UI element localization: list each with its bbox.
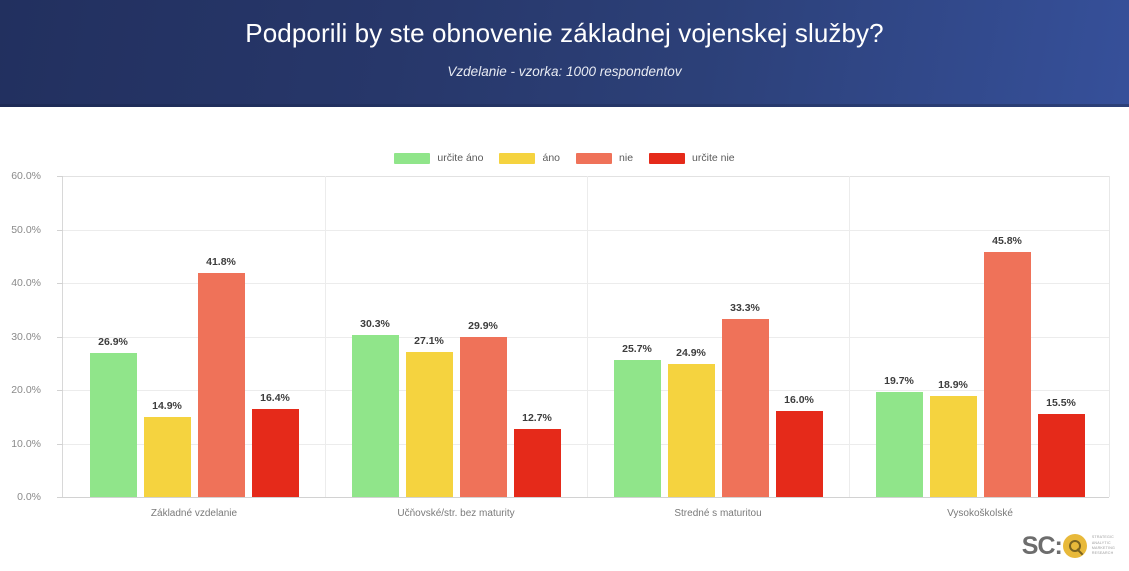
bar-group-bars: 30.3%27.1%29.9%12.7%	[325, 176, 587, 497]
bar[interactable]	[252, 409, 299, 497]
bar-column[interactable]: 33.3%	[722, 176, 769, 497]
legend-label: určite nie	[692, 152, 735, 164]
chart-plot-area: 60.0%50.0%40.0%30.0%20.0%10.0%0.0%26.9%1…	[62, 176, 1110, 497]
bar-value-label: 15.5%	[1046, 397, 1076, 409]
bar-column[interactable]: 25.7%	[614, 176, 661, 497]
legend-item-1[interactable]: áno	[499, 152, 560, 164]
bar[interactable]	[876, 392, 923, 497]
bar-group: 26.9%14.9%41.8%16.4%Základné vzdelanie	[63, 176, 325, 497]
bar[interactable]	[460, 337, 507, 497]
bar-group: 25.7%24.9%33.3%16.0%Stredné s maturitou	[587, 176, 849, 497]
bar-value-label: 16.4%	[260, 392, 290, 404]
legend-item-3[interactable]: určite nie	[649, 152, 735, 164]
bar-value-label: 26.9%	[98, 336, 128, 348]
bar-value-label: 41.8%	[206, 256, 236, 268]
y-axis-tick-mark	[57, 497, 63, 498]
logo-tagline: STRATEGICANALYTICMARKETINGRESEARCH	[1092, 535, 1115, 557]
y-axis-tick-label: 30.0%	[0, 331, 41, 343]
legend-swatch-icon	[649, 153, 685, 164]
y-axis-tick-label: 60.0%	[0, 170, 41, 182]
page-subtitle: Vzdelanie - vzorka: 1000 respondentov	[0, 64, 1129, 79]
bar-column[interactable]: 45.8%	[984, 176, 1031, 497]
bar-column[interactable]: 16.0%	[776, 176, 823, 497]
y-axis-tick-label: 40.0%	[0, 277, 41, 289]
legend-swatch-icon	[499, 153, 535, 164]
bar[interactable]	[144, 417, 191, 497]
bar-value-label: 18.9%	[938, 379, 968, 391]
legend-swatch-icon	[576, 153, 612, 164]
bar[interactable]	[930, 396, 977, 497]
page-title: Podporili by ste obnovenie základnej voj…	[0, 18, 1129, 49]
bar-group: 19.7%18.9%45.8%15.5%Vysokoškolské	[849, 176, 1111, 497]
legend-label: nie	[619, 152, 633, 164]
bar[interactable]	[406, 352, 453, 497]
y-axis-tick-label: 0.0%	[0, 491, 41, 503]
bar-column[interactable]: 14.9%	[144, 176, 191, 497]
y-axis-tick-label: 10.0%	[0, 438, 41, 450]
bar[interactable]	[1038, 414, 1085, 497]
chart-legend: určite ánoánonieurčite nie	[0, 152, 1129, 164]
bar-value-label: 24.9%	[676, 347, 706, 359]
x-axis-category-label: Základné vzdelanie	[63, 508, 325, 519]
bar-value-label: 12.7%	[522, 412, 552, 424]
bar-value-label: 19.7%	[884, 375, 914, 387]
bar-value-label: 14.9%	[152, 400, 182, 412]
bar-column[interactable]: 26.9%	[90, 176, 137, 497]
bar-group-bars: 19.7%18.9%45.8%15.5%	[849, 176, 1111, 497]
bar-column[interactable]: 15.5%	[1038, 176, 1085, 497]
bar[interactable]	[984, 252, 1031, 497]
bar-value-label: 29.9%	[468, 320, 498, 332]
bar-column[interactable]: 41.8%	[198, 176, 245, 497]
page-header: Podporili by ste obnovenie základnej voj…	[0, 0, 1129, 107]
bar[interactable]	[514, 429, 561, 497]
logo-tagline-line: RESEARCH	[1092, 551, 1115, 556]
scio-circle-icon	[1063, 534, 1087, 558]
bar[interactable]	[776, 411, 823, 497]
bar-column[interactable]: 19.7%	[876, 176, 923, 497]
bar-group: 30.3%27.1%29.9%12.7%Učňovské/str. bez ma…	[325, 176, 587, 497]
bar-value-label: 16.0%	[784, 394, 814, 406]
bar-group-bars: 25.7%24.9%33.3%16.0%	[587, 176, 849, 497]
x-axis-category-label: Vysokoškolské	[849, 508, 1111, 519]
bar-column[interactable]: 24.9%	[668, 176, 715, 497]
scio-logo: SC: STRATEGICANALYTICMARKETINGRESEARCH	[1022, 529, 1115, 563]
y-axis-tick-label: 50.0%	[0, 224, 41, 236]
bar-column[interactable]: 27.1%	[406, 176, 453, 497]
bar-value-label: 45.8%	[992, 235, 1022, 247]
bar-column[interactable]: 29.9%	[460, 176, 507, 497]
bar-group-bars: 26.9%14.9%41.8%16.4%	[63, 176, 325, 497]
bar[interactable]	[722, 319, 769, 497]
legend-swatch-icon	[394, 153, 430, 164]
bar-value-label: 33.3%	[730, 302, 760, 314]
legend-item-0[interactable]: určite áno	[394, 152, 483, 164]
logo-wordmark: SC:	[1022, 534, 1062, 559]
bar-column[interactable]: 30.3%	[352, 176, 399, 497]
chart-page: Podporili by ste obnovenie základnej voj…	[0, 0, 1129, 571]
bar-column[interactable]: 18.9%	[930, 176, 977, 497]
bar-value-label: 27.1%	[414, 335, 444, 347]
bar-column[interactable]: 12.7%	[514, 176, 561, 497]
gridline	[63, 497, 1109, 498]
bar[interactable]	[90, 353, 137, 497]
bar[interactable]	[198, 273, 245, 497]
x-axis-category-label: Stredné s maturitou	[587, 508, 849, 519]
legend-label: áno	[542, 152, 560, 164]
legend-item-2[interactable]: nie	[576, 152, 633, 164]
bar-value-label: 25.7%	[622, 343, 652, 355]
y-axis-tick-label: 20.0%	[0, 384, 41, 396]
bar-value-label: 30.3%	[360, 318, 390, 330]
legend-label: určite áno	[437, 152, 483, 164]
bar[interactable]	[614, 360, 661, 497]
bar-column[interactable]: 16.4%	[252, 176, 299, 497]
x-axis-category-label: Učňovské/str. bez maturity	[325, 508, 587, 519]
bar[interactable]	[668, 364, 715, 497]
bar[interactable]	[352, 335, 399, 497]
